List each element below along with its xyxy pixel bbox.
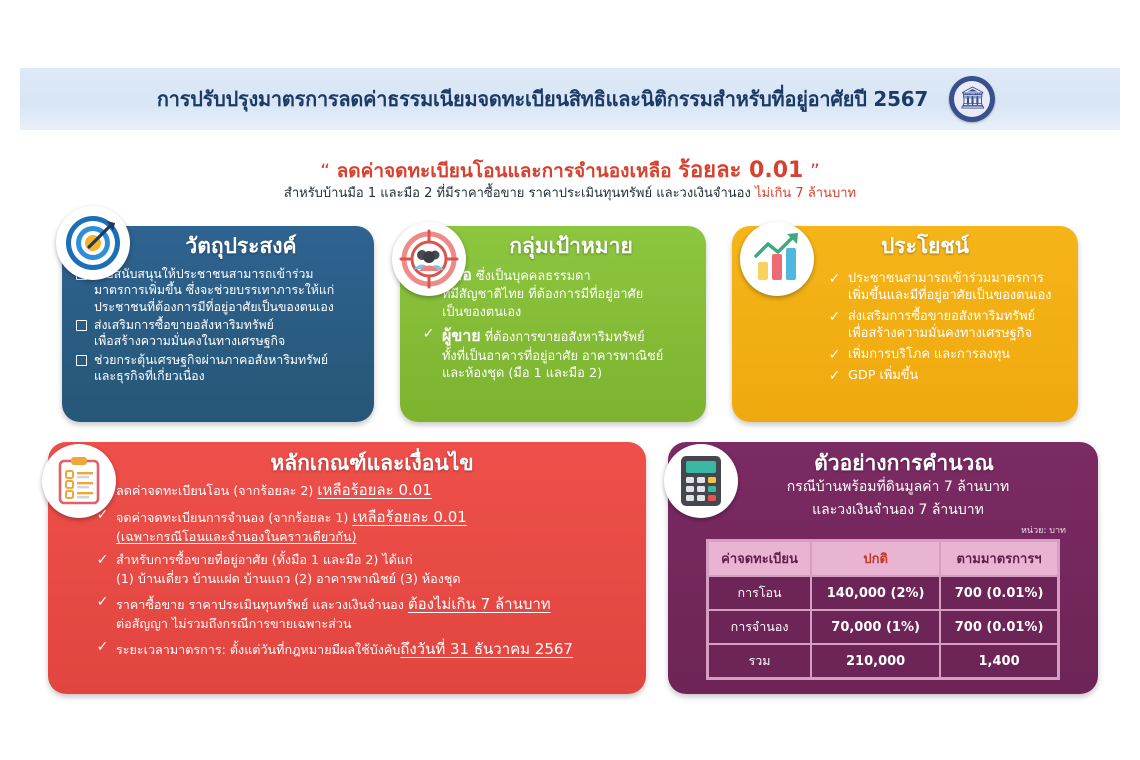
list-item: ✓ GDP เพิ่มขึ้น — [828, 367, 1064, 385]
cell-label: การจำนอง — [708, 610, 811, 644]
list-item: ✓ ประชาชนสามารถเข้าร่วมมาตรการ เพิ่มขึ้น… — [828, 270, 1064, 305]
bullet-line: เพื่อสนับสนุนให้ประชาชนสามารถเข้าร่วม — [94, 267, 313, 281]
bullet-line: ช่วยกระตุ้นเศรษฐกิจผ่านภาคอสังหาริมทรัพย… — [94, 353, 328, 367]
check-icon: ✓ — [96, 551, 109, 569]
calculator-glyph — [677, 454, 725, 508]
check-icon: ✓ — [828, 308, 841, 326]
check-icon: ✓ — [96, 638, 109, 656]
table-row: การจำนอง 70,000 (1%) 700 (0.01%) — [708, 610, 1058, 644]
bullet-line: เพื่อสร้างความมั่นคงทางเศรษฐกิจ — [848, 326, 1032, 341]
calculation-subline-2: และวงเงินจำนอง 7 ล้านบาท — [668, 498, 1098, 521]
bullet-sub: ต่อสัญญา ไม่รวมถึงกรณีการขายเฉพาะส่วน — [116, 616, 352, 631]
clipboard-checklist-icon — [42, 444, 116, 518]
bullet-line: ประชาชนสามารถเข้าร่วมมาตรการ — [848, 271, 1044, 286]
bullet-line: มาตรการเพิ่มขึ้น ซึ่งจะช่วยบรรเทาภาระให้… — [94, 283, 334, 297]
bar-chart-growth-icon — [740, 222, 814, 296]
subtitle-note-text: สำหรับบ้านมือ 1 และมือ 2 ที่มีราคาซื้อขา… — [284, 186, 755, 201]
column-header-measure: ตามมาตรการฯ — [940, 541, 1058, 576]
checkbox-icon — [76, 320, 87, 331]
bullet-lead: ผู้ขาย — [442, 326, 481, 345]
list-item: ✓ ผู้ขาย ที่ต้องการขายอสังหาริมทรัพย์ ทั… — [422, 325, 694, 382]
cell-label: รวม — [708, 644, 811, 678]
bullet-line: ทั้งที่เป็นอาคารที่อยู่อาศัย อาคารพาณิชย… — [442, 349, 663, 364]
clipboard-checklist-glyph — [52, 454, 106, 508]
list-item: ✓ จดค่าจดทะเบียนการจำนอง (จากร้อยละ 1) เ… — [96, 506, 632, 547]
cell-measure: 700 (0.01%) — [940, 576, 1058, 610]
card-criteria-title: หลักเกณฑ์และเงื่อนไข — [48, 442, 646, 475]
calculation-table: ค่าจดทะเบียน ปกติ ตามมาตรการฯ การโอน 140… — [706, 539, 1060, 680]
check-icon: ✓ — [422, 325, 435, 343]
people-crosshair-icon — [392, 222, 466, 296]
table-header: ค่าจดทะเบียน ปกติ ตามมาตรการฯ — [708, 541, 1058, 576]
seal-garuda-glyph: 🏛 — [949, 76, 995, 122]
people-crosshair-glyph — [399, 229, 459, 289]
bullet-line: ที่มีสัญชาติไทย ที่ต้องการมีที่อยู่อาศัย — [442, 287, 643, 302]
page-title: การปรับปรุงมาตรการลดค่าธรรมเนียมจดทะเบีย… — [156, 83, 927, 116]
target-dartboard-icon — [56, 206, 130, 280]
bar-chart-growth-glyph — [748, 230, 806, 288]
list-item: เพื่อสนับสนุนให้ประชาชนสามารถเข้าร่วม มา… — [76, 266, 362, 315]
subtitle-text: ลดค่าจดทะเบียนโอนและการจำนองเหลือ — [337, 160, 672, 182]
card-criteria: หลักเกณฑ์และเงื่อนไข ✓ ลดค่าจดทะเบียนโอน… — [48, 442, 646, 694]
cell-normal: 210,000 — [811, 644, 940, 678]
list-item: ส่งเสริมการซื้อขายอสังหาริมทรัพย์ เพื่อส… — [76, 317, 362, 350]
card-criteria-list: ✓ ลดค่าจดทะเบียนโอน (จากร้อยละ 2) เหลือร… — [48, 475, 646, 661]
list-item: ช่วยกระตุ้นเศรษฐกิจผ่านภาคอสังหาริมทรัพย… — [76, 352, 362, 385]
table-row: การโอน 140,000 (2%) 700 (0.01%) — [708, 576, 1058, 610]
bullet-rest: ซึ่งเป็นบุคคลธรรมดา — [472, 269, 591, 284]
table-header-row: ค่าจดทะเบียน ปกติ ตามมาตรการฯ — [708, 541, 1058, 576]
header-banner: การปรับปรุงมาตรการลดค่าธรรมเนียมจดทะเบีย… — [20, 68, 1120, 130]
subtitle-note: สำหรับบ้านมือ 1 และมือ 2 ที่มีราคาซื้อขา… — [0, 182, 1140, 203]
bullet-line: และห้องชุด (มือ 1 และมือ 2) — [442, 366, 602, 381]
list-item: ✓ ลดค่าจดทะเบียนโอน (จากร้อยละ 2) เหลือร… — [96, 479, 632, 502]
target-dartboard-glyph — [63, 213, 123, 273]
cell-normal: 70,000 (1%) — [811, 610, 940, 644]
infographic-canvas: การปรับปรุงมาตรการลดค่าธรรมเนียมจดทะเบีย… — [0, 0, 1140, 760]
table-unit-label: หน่วย: บาท — [668, 521, 1098, 539]
quote-open: “ — [320, 160, 330, 182]
cell-normal: 140,000 (2%) — [811, 576, 940, 610]
bullet-text: ลดค่าจดทะเบียนโอน (จากร้อยละ 2) — [116, 483, 317, 498]
subtitle-emphasis: ร้อยละ 0.01 — [678, 158, 803, 183]
bullet-line: GDP เพิ่มขึ้น — [848, 367, 1064, 384]
column-header-normal: ปกติ — [811, 541, 940, 576]
quote-close: ” — [810, 160, 820, 182]
bullet-underline: เหลือร้อยละ 0.01 — [317, 481, 432, 499]
bullet-line: ประชาชนที่ต้องการมีที่อยู่อาศัยเป็นของตน… — [94, 300, 334, 314]
cell-measure: 700 (0.01%) — [940, 610, 1058, 644]
bullet-underline: ต้องไม่เกิน 7 ล้านบาท — [408, 595, 551, 613]
subtitle-note-highlight: ไม่เกิน 7 ล้านบาท — [755, 186, 856, 201]
calculator-icon — [664, 444, 738, 518]
column-header-fee: ค่าจดทะเบียน — [708, 541, 811, 576]
cell-measure: 1,400 — [940, 644, 1058, 678]
bullet-sub: (1) บ้านเดี่ยว บ้านแฝด บ้านแถว (2) อาคาร… — [116, 571, 461, 586]
bullet-line: ส่งเสริมการซื้อขายอสังหาริมทรัพย์ — [848, 309, 1035, 324]
table-row: รวม 210,000 1,400 — [708, 644, 1058, 678]
bullet-line: ส่งเสริมการซื้อขายอสังหาริมทรัพย์ — [94, 318, 274, 332]
check-icon: ✓ — [828, 270, 841, 288]
check-icon: ✓ — [828, 346, 841, 364]
list-item: ✓ เพิ่มการบริโภค และการลงทุน — [828, 346, 1064, 364]
bullet-line: เป็นของตนเอง — [442, 305, 521, 320]
bullet-line: เพิ่มการบริโภค และการลงทุน — [848, 346, 1064, 363]
check-icon: ✓ — [96, 593, 109, 611]
check-icon: ✓ — [828, 367, 841, 385]
card-objectives-list: เพื่อสนับสนุนให้ประชาชนสามารถเข้าร่วม มา… — [62, 258, 374, 384]
list-item: ✓ ราคาซื้อขาย ราคาประเมินทุนทรัพย์ และวง… — [96, 593, 632, 634]
table-body: การโอน 140,000 (2%) 700 (0.01%) การจำนอง… — [708, 576, 1058, 678]
bullet-text: ราคาซื้อขาย ราคาประเมินทุนทรัพย์ และวงเง… — [116, 597, 408, 612]
bullet-sub-underline: (เฉพาะกรณีโอนและจำนองในคราวเดียวกัน) — [116, 529, 357, 544]
bullet-rest: ที่ต้องการขายอสังหาริมทรัพย์ — [481, 330, 645, 345]
list-item: ✓ ระยะเวลามาตรการ: ตั้งแต่วันที่กฎหมายมี… — [96, 638, 632, 661]
ministry-of-finance-seal-icon: 🏛 — [949, 76, 995, 122]
bullet-text: ระยะเวลามาตรการ: ตั้งแต่วันที่กฎหมายมีผล… — [116, 642, 400, 657]
list-item: ✓ สำหรับการซื้อขายที่อยู่อาศัย (ทั้งมือ … — [96, 551, 632, 589]
bullet-line: เพิ่มขึ้นและมีที่อยู่อาศัยเป็นของตนเอง — [848, 288, 1052, 303]
bullet-line: และธุรกิจที่เกี่ยวเนื่อง — [94, 369, 205, 383]
bullet-text: จดค่าจดทะเบียนการจำนอง (จากร้อยละ 1) — [116, 510, 352, 525]
bullet-underline: เหลือร้อยละ 0.01 — [352, 508, 467, 526]
list-item: ✓ ส่งเสริมการซื้อขายอสังหาริมทรัพย์ เพื่… — [828, 308, 1064, 343]
cell-label: การโอน — [708, 576, 811, 610]
bullet-underline: ถึงวันที่ 31 ธันวาคม 2567 — [400, 640, 573, 658]
checkbox-icon — [76, 355, 87, 366]
bullet-line: เพื่อสร้างความมั่นคงในทางเศรษฐกิจ — [94, 334, 285, 348]
bullet-text: สำหรับการซื้อขายที่อยู่อาศัย (ทั้งมือ 1 … — [116, 552, 413, 567]
